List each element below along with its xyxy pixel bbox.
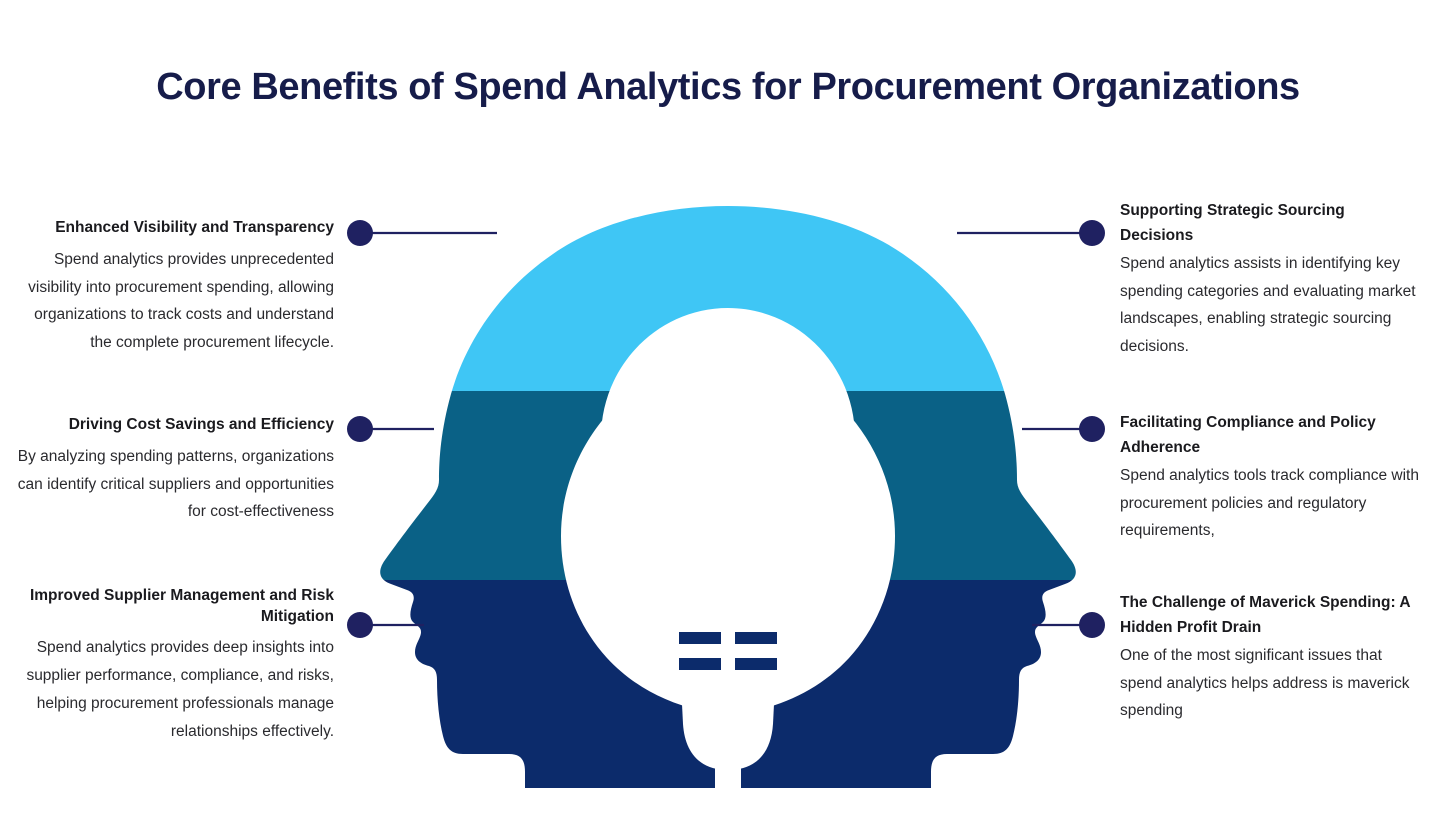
benefit-block-compliance: Facilitating Compliance and Policy Adher… <box>1120 410 1420 545</box>
benefit-heading: Driving Cost Savings and Efficiency <box>14 415 334 436</box>
benefit-heading: Improved Supplier Management and Risk Mi… <box>14 586 334 627</box>
page-title: Core Benefits of Spend Analytics for Pro… <box>0 66 1456 109</box>
benefit-block-supplier-management: Improved Supplier Management and Risk Mi… <box>14 586 334 746</box>
benefit-heading: Enhanced Visibility and Transparency <box>14 218 334 239</box>
benefit-body: Spend analytics assists in identifying k… <box>1120 250 1420 360</box>
benefit-block-enhanced-visibility: Enhanced Visibility and Transparency Spe… <box>14 218 334 357</box>
benefit-body: Spend analytics provides deep insights i… <box>14 634 334 746</box>
two-heads-lightbulb-graphic <box>363 188 1093 788</box>
benefit-body: Spend analytics tools track compliance w… <box>1120 462 1420 545</box>
benefit-block-strategic-sourcing: Supporting Strategic Sourcing Decisions … <box>1120 198 1420 361</box>
benefit-body: One of the most significant issues that … <box>1120 642 1420 725</box>
benefit-block-cost-savings: Driving Cost Savings and Efficiency By a… <box>14 415 334 526</box>
benefit-body: Spend analytics provides unprecedented v… <box>14 246 334 358</box>
benefit-body: By analyzing spending patterns, organiza… <box>14 443 334 527</box>
benefit-heading: The Challenge of Maverick Spending: A Hi… <box>1120 590 1420 640</box>
benefit-block-maverick-spending: The Challenge of Maverick Spending: A Hi… <box>1120 590 1420 725</box>
benefit-heading: Supporting Strategic Sourcing Decisions <box>1120 198 1420 248</box>
benefit-heading: Facilitating Compliance and Policy Adher… <box>1120 410 1420 460</box>
